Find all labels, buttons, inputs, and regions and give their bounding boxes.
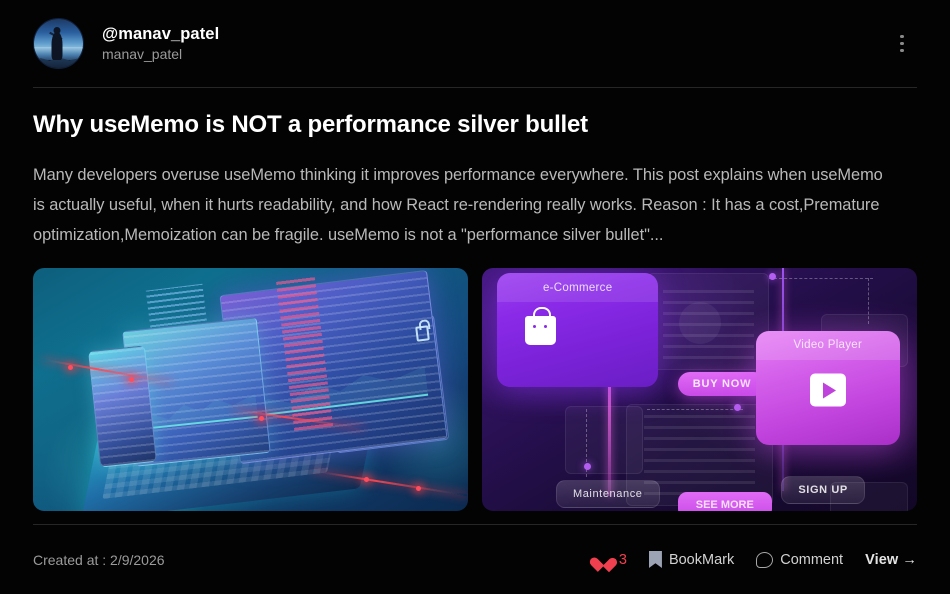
connector-node [769,273,776,280]
post-header: @manav_patel manav_patel [33,0,917,88]
created-at-label: Created at : 2/9/2026 [33,552,165,568]
avatar[interactable] [33,18,84,69]
post-image-devices[interactable] [33,268,468,511]
post-footer: Created at : 2/9/2026 3 BookMark Comment… [33,524,917,594]
post-images: e-Commerce BUY NOW Video Player Maintena… [33,268,917,511]
author-username: manav_patel [102,46,219,63]
kebab-dot-1 [900,35,904,39]
avatar-figure [51,32,62,60]
post-card: @manav_patel manav_patel Why useMemo is … [0,0,950,594]
screen-rows [89,346,155,466]
red-glow-dot [68,365,73,370]
kebab-dot-2 [900,42,904,46]
play-icon [810,374,846,407]
ghost-avatar-blob [679,302,721,344]
like-count: 3 [619,552,627,568]
user-meta: @manav_patel manav_patel [102,25,219,63]
ghost-lines [644,415,755,495]
buy-now-button: BUY NOW [678,372,767,396]
video-card-title: Video Player [794,339,863,351]
bookmark-icon [649,551,662,568]
video-player-card: Video Player [756,331,900,445]
screen-phone [88,345,156,467]
post-image-ui-components[interactable]: e-Commerce BUY NOW Video Player Maintena… [482,268,917,511]
see-more-button: SEE MORE [678,492,772,511]
view-link[interactable]: View → [865,552,917,568]
dashed-connector-vertical [868,278,869,324]
red-glow-dot [364,477,369,482]
dashed-connector [647,409,743,410]
comment-label: Comment [780,552,843,568]
video-card-titlebar: Video Player [756,331,900,360]
post-body-text: Many developers overuse useMemo thinking… [33,160,893,250]
red-glow-dot [129,377,134,382]
ecommerce-card-titlebar: e-Commerce [497,273,658,303]
dashed-connector [769,278,873,279]
author-handle[interactable]: @manav_patel [102,25,219,44]
bookmark-label: BookMark [669,552,734,568]
like-button[interactable]: 3 [595,552,627,568]
signup-button: SIGN UP [781,476,864,504]
ecommerce-card: e-Commerce [497,273,658,387]
bookmark-button[interactable]: BookMark [649,551,734,568]
maintenance-button: Maintenance [556,480,660,508]
post-title[interactable]: Why useMemo is NOT a performance silver … [33,111,917,140]
kebab-menu-icon[interactable] [889,27,915,61]
post-actions: 3 BookMark Comment View → [595,551,917,568]
lock-icon [415,325,430,341]
ecommerce-card-title: e-Commerce [543,282,612,294]
shopping-bag-icon [525,316,556,345]
heart-icon [595,552,612,568]
comment-button[interactable]: Comment [756,552,843,568]
connector-node [584,463,591,470]
ghost-panel [565,406,643,474]
comment-icon [756,552,773,568]
kebab-dot-3 [900,49,904,53]
